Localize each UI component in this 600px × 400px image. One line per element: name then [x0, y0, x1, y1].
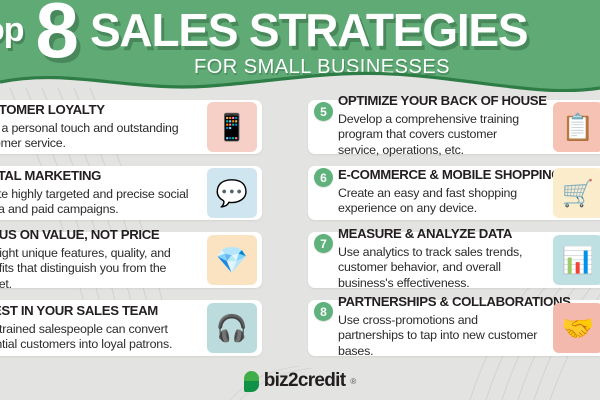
strategy-card-1-text: CUSTOMER LOYALTY Offer a personal touch …: [0, 100, 202, 154]
strategy-card-1-body: Offer a personal touch and outstanding c…: [0, 121, 194, 152]
strategy-badge-7: 7: [314, 234, 333, 253]
header-top-word: op: [0, 13, 24, 47]
strategy-card-7-title: MEASURE & ANALYZE DATA: [338, 227, 540, 242]
registered-trademark-mark: ®: [350, 377, 356, 386]
strategy-card-2-title: DIGITAL MARKETING: [0, 169, 194, 184]
strategy-card-5[interactable]: 5 OPTIMIZE YOUR BACK OF HOUSE Develop a …: [308, 100, 600, 154]
strategy-card-8-body: Use cross-promotions and partnerships to…: [338, 313, 540, 359]
strategy-card-5-body: Develop a comprehensive training program…: [338, 112, 540, 158]
strategy-card-4-text: INVEST IN YOUR SALES TEAM Well-trained s…: [0, 300, 202, 356]
strategy-card-1-glyph: 📱: [207, 102, 257, 152]
strategy-card-3-text: FOCUS ON VALUE, NOT PRICE Highlight uniq…: [0, 232, 202, 288]
strategy-badge-6: 6: [314, 168, 333, 187]
customer-service-agent-icon: 🎧: [207, 303, 257, 353]
infographic-canvas: op 8 SALES STRATEGIES FOR SMALL BUSINESS…: [0, 0, 600, 400]
strategy-card-2[interactable]: DIGITAL MARKETING Create highly targeted…: [0, 166, 262, 220]
analytics-chart-icon: 📊: [553, 235, 600, 285]
strategy-card-5-glyph: 📋: [553, 102, 600, 152]
hands-holding-diamond-icon: 💎: [207, 235, 257, 285]
training-checklist-icon: 📋: [553, 102, 600, 152]
strategy-card-7-glyph: 📊: [553, 235, 600, 285]
strategy-card-6[interactable]: 6 E-COMMERCE & MOBILE SHOPPING Create an…: [308, 166, 600, 220]
header-title-row: op 8 SALES STRATEGIES: [0, 2, 600, 58]
strategy-card-7-text: MEASURE & ANALYZE DATA Use analytics to …: [308, 232, 548, 288]
strategy-card-4-glyph: 🎧: [207, 303, 257, 353]
strategy-card-3-body: Highlight unique features, quality, and …: [0, 246, 194, 292]
strategy-card-4-title: INVEST IN YOUR SALES TEAM: [0, 304, 194, 319]
strategy-card-7-body: Use analytics to track sales trends, cus…: [338, 245, 540, 291]
strategy-card-8-title: PARTNERSHIPS & COLLABORATIONS: [338, 295, 540, 310]
strategy-card-3-title: FOCUS ON VALUE, NOT PRICE: [0, 228, 194, 243]
header-banner: op 8 SALES STRATEGIES FOR SMALL BUSINESS…: [0, 0, 600, 92]
strategy-card-3-glyph: 💎: [207, 235, 257, 285]
strategy-card-4[interactable]: INVEST IN YOUR SALES TEAM Well-trained s…: [0, 300, 262, 356]
social-media-icons-icon: 💬: [207, 168, 257, 218]
strategy-card-1[interactable]: CUSTOMER LOYALTY Offer a personal touch …: [0, 100, 262, 154]
woman-phone-star-rating-icon: 📱: [207, 102, 257, 152]
strategy-card-3[interactable]: FOCUS ON VALUE, NOT PRICE Highlight uniq…: [0, 232, 262, 288]
strategy-card-7[interactable]: 7 MEASURE & ANALYZE DATA Use analytics t…: [308, 232, 600, 288]
strategy-badge-8: 8: [314, 302, 333, 321]
strategy-card-4-body: Well-trained salespeople can convert pot…: [0, 322, 194, 353]
strategy-card-1-title: CUSTOMER LOYALTY: [0, 103, 194, 118]
footer-brand: biz2credit ®: [0, 362, 600, 400]
header-big-number: 8: [36, 0, 76, 63]
strategy-card-5-title: OPTIMIZE YOUR BACK OF HOUSE: [338, 94, 540, 109]
strategy-card-8-glyph: 🤝: [553, 303, 600, 353]
wave-divider: [0, 66, 600, 92]
handshake-partnership-icon: 🤝: [553, 303, 600, 353]
strategy-badge-5: 5: [314, 102, 333, 121]
strategies-column-right: 5 OPTIMIZE YOUR BACK OF HOUSE Develop a …: [300, 100, 600, 362]
strategy-card-8-text: PARTNERSHIPS & COLLABORATIONS Use cross-…: [308, 300, 548, 356]
strategy-card-6-body: Create an easy and fast shopping experie…: [338, 186, 540, 217]
strategy-card-6-glyph: 🛒: [553, 168, 600, 218]
strategy-card-2-text: DIGITAL MARKETING Create highly targeted…: [0, 166, 202, 220]
strategy-card-6-text: E-COMMERCE & MOBILE SHOPPING Create an e…: [308, 166, 548, 220]
brand-name: biz2credit: [264, 370, 346, 392]
mobile-shopping-cart-icon: 🛒: [553, 168, 600, 218]
strategy-card-6-title: E-COMMERCE & MOBILE SHOPPING: [338, 168, 540, 183]
strategy-card-2-glyph: 💬: [207, 168, 257, 218]
strategies-column-left: CUSTOMER LOYALTY Offer a personal touch …: [0, 100, 300, 362]
strategy-card-5-text: OPTIMIZE YOUR BACK OF HOUSE Develop a co…: [308, 100, 548, 154]
strategy-card-2-body: Create highly targeted and precise socia…: [0, 187, 194, 218]
biz2credit-leaf-logo-icon: [244, 371, 259, 392]
strategy-card-8[interactable]: 8 PARTNERSHIPS & COLLABORATIONS Use cros…: [308, 300, 600, 356]
page-title: SALES STRATEGIES: [90, 7, 527, 53]
